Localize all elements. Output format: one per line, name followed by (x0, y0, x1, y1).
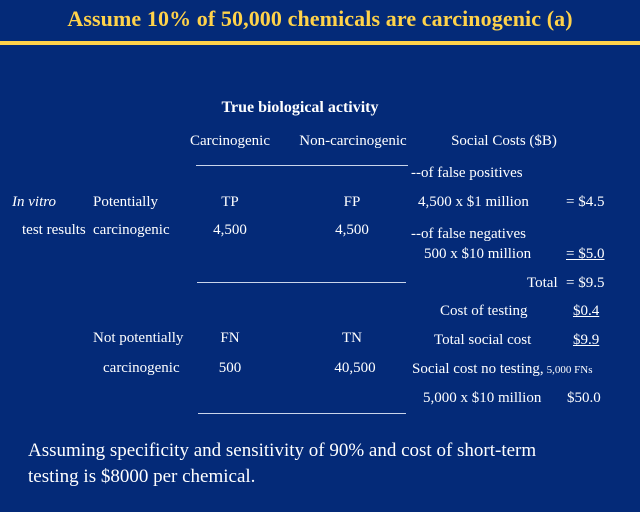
title-divider (0, 41, 640, 45)
table-row-2-label-line1: Not potentially (93, 330, 183, 346)
cost-false-positives-header: --of false positives (411, 165, 523, 181)
table-row-1-cell2-code: FP (344, 194, 361, 210)
table-row-1-cell2-value: 4,500 (335, 222, 369, 238)
table-row-2-cell2-code: TN (342, 330, 362, 346)
table-divider-bottom (198, 413, 406, 414)
table-row-1-cell1-code: TP (221, 194, 239, 210)
table-divider-middle (197, 282, 406, 283)
column-header-non-carcinogenic: Non-carcinogenic (299, 133, 406, 149)
cost-of-testing-label: Cost of testing (440, 303, 528, 319)
column-header-carcinogenic: Carcinogenic (190, 133, 270, 149)
table-row-2-label-line2: carcinogenic (103, 360, 180, 376)
cost-total-result: = $9.5 (566, 275, 604, 291)
caption-line-1: Assuming specificity and sensitivity of … (28, 438, 618, 464)
cost-of-testing-result: $0.4 (573, 303, 599, 319)
cost-false-negatives-result: = $5.0 (566, 246, 604, 262)
slide-caption: Assuming specificity and sensitivity of … (28, 438, 618, 490)
group-header-true-biological-activity: True biological activity (221, 100, 378, 116)
caption-line-2: testing is $8000 per chemical. (28, 464, 618, 490)
social-cost-no-testing-label-suffix: 5,000 FNs (544, 364, 593, 376)
table-row-2-cell2-value: 40,500 (334, 360, 375, 376)
total-social-cost-result: $9.9 (573, 332, 599, 348)
cost-total-label: Total (527, 275, 558, 291)
table-row-1-cell1-value: 4,500 (213, 222, 247, 238)
column-header-social-costs: Social Costs ($B) (451, 133, 557, 149)
table-row-1-label-line1: Potentially (93, 194, 158, 210)
cost-false-negatives-header: --of false negatives (411, 226, 526, 242)
no-testing-calc: 5,000 x $10 million (423, 390, 541, 406)
table-divider-top (196, 165, 408, 166)
cost-false-negatives-calc: 500 x $10 million (424, 246, 531, 262)
page-title: Assume 10% of 50,000 chemicals are carci… (0, 6, 640, 32)
social-cost-no-testing-label-main: Social cost no testing, (412, 361, 544, 377)
table-row-1-label-line2: carcinogenic (93, 222, 170, 238)
cost-false-positives-result: = $4.5 (566, 194, 604, 210)
cost-false-positives-calc: 4,500 x $1 million (418, 194, 529, 210)
table-row-2-cell1-value: 500 (219, 360, 242, 376)
row-stub-line1: In vitro (12, 194, 56, 210)
social-cost-no-testing-label: Social cost no testing,5,000 FNs (412, 361, 593, 378)
slide-canvas: Assume 10% of 50,000 chemicals are carci… (0, 0, 640, 512)
row-stub-line2: test results (22, 222, 86, 238)
table-row-2-cell1-code: FN (220, 330, 239, 346)
no-testing-result: $50.0 (567, 390, 601, 406)
total-social-cost-label: Total social cost (434, 332, 531, 348)
